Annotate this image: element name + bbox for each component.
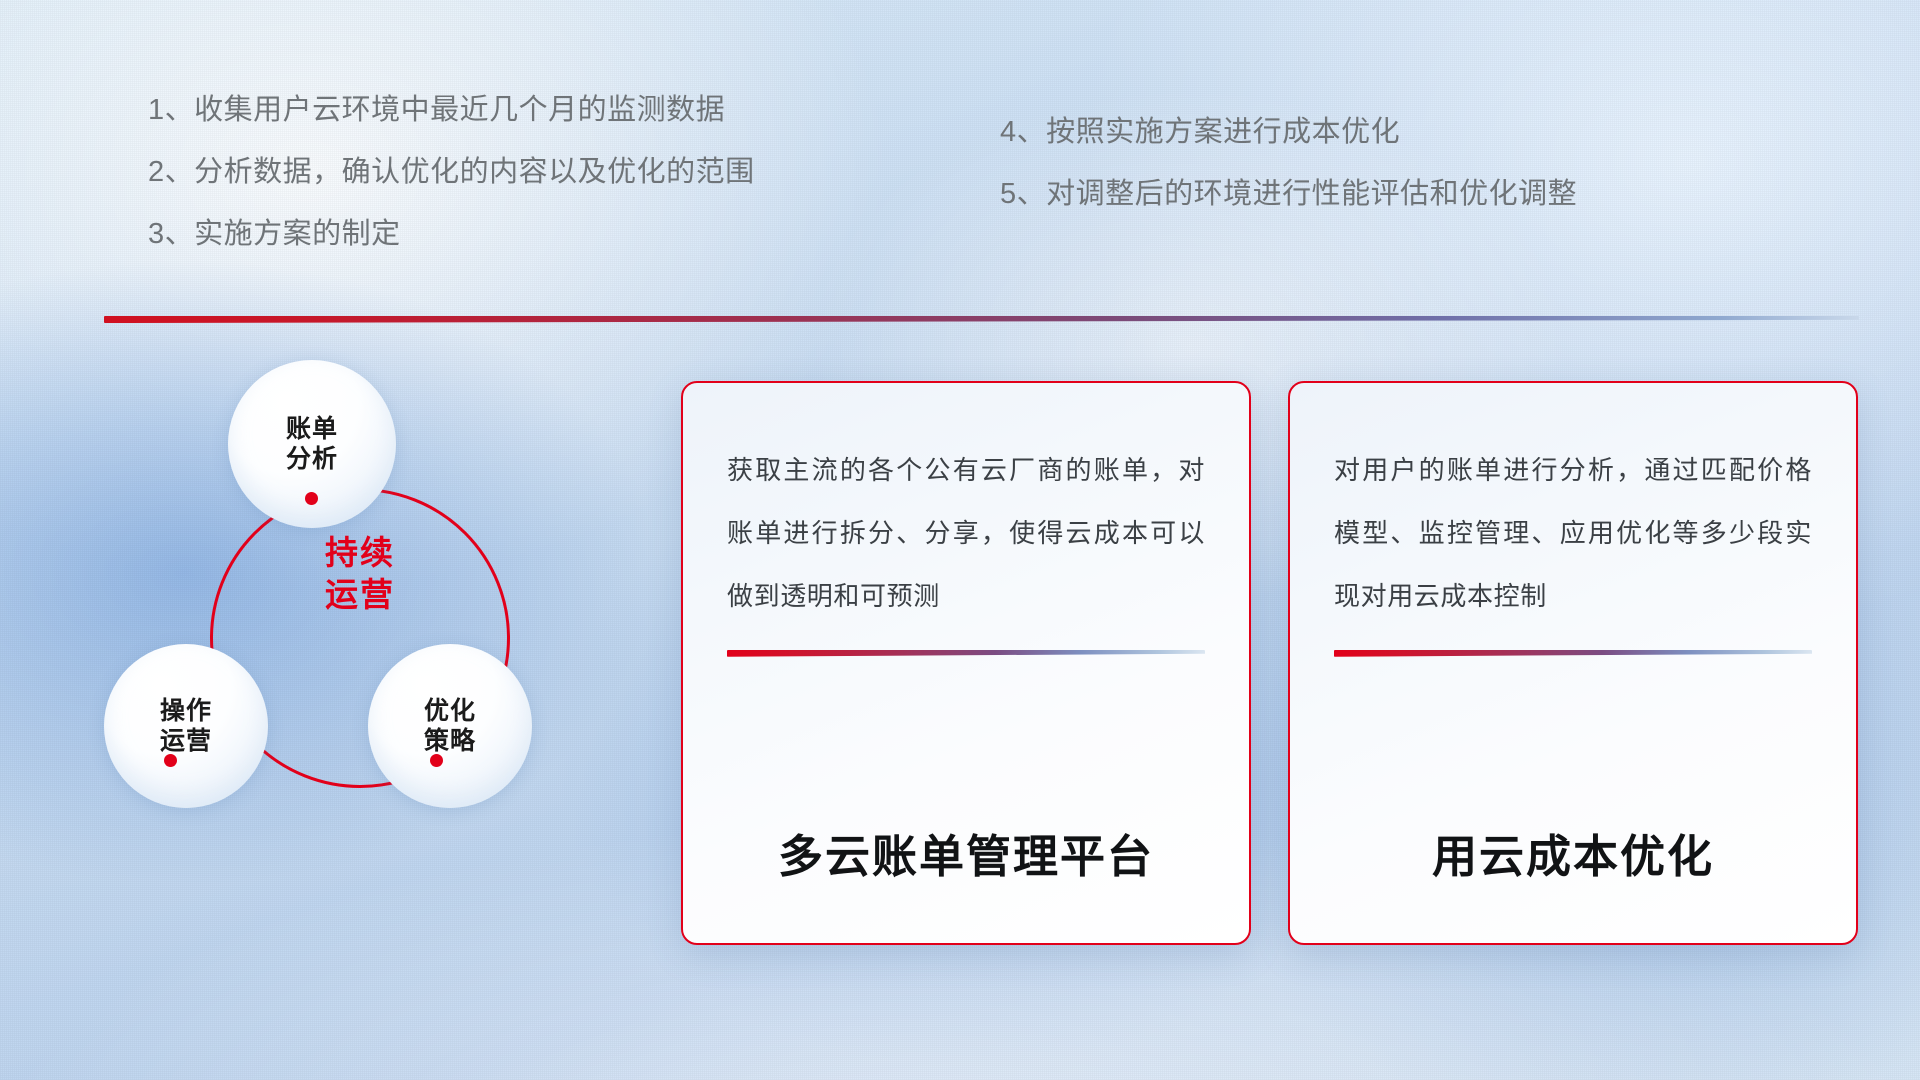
- card-cloud-cost-optimization[interactable]: 对用户的账单进行分析，通过匹配价格模型、监控管理、应用优化等多少段实现对用云成本…: [1288, 381, 1858, 945]
- node-label-line-1: 操作: [160, 696, 212, 727]
- center-label-line-2: 运营: [210, 574, 510, 616]
- card-title: 用云成本优化: [1334, 820, 1812, 885]
- diagram-node-ops-operation[interactable]: 操作 运营: [104, 644, 268, 808]
- step-item-2: 2、分析数据，确认优化的内容以及优化的范围: [148, 158, 755, 187]
- steps-left-column: 1、收集用户云环境中最近几个月的监测数据 2、分析数据，确认优化的内容以及优化的…: [148, 96, 755, 282]
- node-label-line-2: 分析: [286, 444, 338, 475]
- diagram-center-label: 持续 运营: [210, 532, 510, 615]
- card-multi-cloud-billing-platform[interactable]: 获取主流的各个公有云厂商的账单，对账单进行拆分、分享，使得云成本可以做到透明和可…: [681, 381, 1251, 945]
- steps-right-column: 4、按照实施方案进行成本优化 5、对调整后的环境进行性能评估和优化调整: [1000, 118, 1577, 242]
- diagram-connector-dot-top: [305, 492, 318, 505]
- card-gradient-rule: [727, 650, 1205, 657]
- node-label-line-1: 账单: [286, 414, 338, 445]
- card-gradient-rule: [1334, 650, 1812, 657]
- node-label-line-1: 优化: [424, 696, 476, 727]
- diagram-connector-dot-left: [164, 754, 177, 767]
- card-body-text: 获取主流的各个公有云厂商的账单，对账单进行拆分、分享，使得云成本可以做到透明和可…: [727, 439, 1205, 628]
- node-label-line-2: 运营: [160, 726, 212, 757]
- diagram-node-optimization-strategy[interactable]: 优化 策略: [368, 644, 532, 808]
- card-title: 多云账单管理平台: [727, 820, 1205, 885]
- step-item-5: 5、对调整后的环境进行性能评估和优化调整: [1000, 180, 1577, 209]
- diagram-connector-dot-right: [430, 754, 443, 767]
- node-label-line-2: 策略: [424, 726, 476, 757]
- card-body-text: 对用户的账单进行分析，通过匹配价格模型、监控管理、应用优化等多少段实现对用云成本…: [1334, 439, 1812, 628]
- step-item-3: 3、实施方案的制定: [148, 220, 755, 249]
- continuous-operation-diagram: 账单 分析 操作 运营 优化 策略 持续 运营: [96, 352, 656, 932]
- center-label-line-1: 持续: [210, 532, 510, 574]
- step-item-1: 1、收集用户云环境中最近几个月的监测数据: [148, 96, 755, 125]
- step-item-4: 4、按照实施方案进行成本优化: [1000, 118, 1577, 147]
